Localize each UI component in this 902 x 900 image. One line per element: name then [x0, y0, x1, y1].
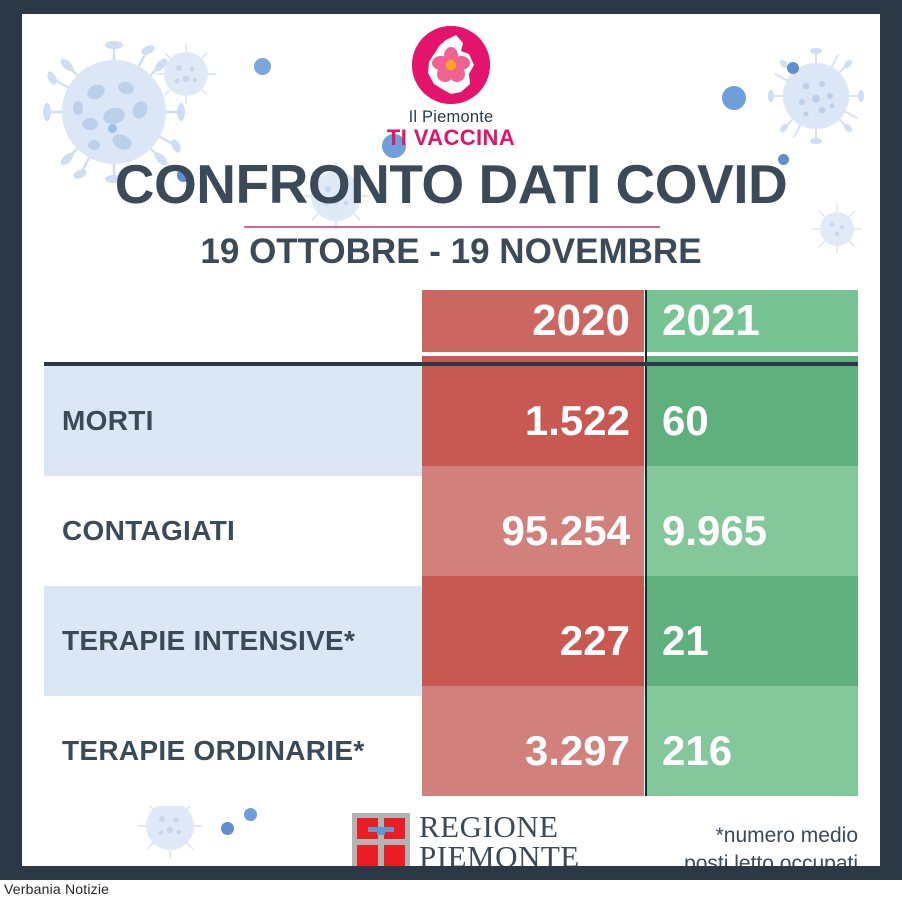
footnote-line1: *numero medio	[608, 822, 858, 850]
title-divider-rule	[244, 226, 660, 228]
logo-line1: REGIONE	[419, 812, 580, 842]
logo-line2: PIEMONTE	[419, 842, 580, 866]
table-cell-2020: 3.297	[422, 696, 630, 806]
page-subtitle: 19 OTTOBRE - 19 NOVEMBRE	[22, 232, 880, 272]
table-cell-2021: 216	[662, 696, 862, 806]
footnote-line2: posti letto occupati	[608, 850, 858, 866]
regione-piemonte-logo: REGIONE PIEMONTE	[352, 812, 580, 866]
virus-dot-icon	[244, 808, 257, 821]
table-cell-2020: 227	[422, 586, 630, 696]
page-title: CONFRONTO DATI COVID	[22, 152, 880, 216]
watermark: Verbania Notizie	[4, 881, 109, 897]
infographic-canvas: Il Piemonte TI VACCINA CONFRONTO DATI CO…	[22, 14, 880, 866]
brand-line2: TI VACCINA	[22, 125, 880, 151]
regione-piemonte-wordmark: REGIONE PIEMONTE	[419, 812, 580, 866]
table-cell-2020: 95.254	[422, 476, 630, 586]
table-row-label: TERAPIE INTENSIVE*	[62, 586, 422, 696]
table-cell-2020: 1.522	[422, 366, 630, 476]
piemonte-region-flower-icon	[412, 26, 490, 104]
table-cell-2021: 60	[662, 366, 862, 476]
regione-piemonte-logo-icon	[352, 813, 410, 866]
table-cell-2021: 21	[662, 586, 862, 696]
vaccine-campaign-logo: Il Piemonte TI VACCINA	[22, 26, 880, 151]
column-header-2020: 2020	[422, 290, 630, 352]
virus-dot-icon	[221, 822, 234, 835]
table-row-label: CONTAGIATI	[62, 476, 422, 586]
table-cell-2021: 9.965	[662, 476, 862, 586]
footnote: *numero medio posti letto occupati	[608, 822, 858, 866]
column-header-2021: 2021	[662, 290, 862, 352]
infographic-page: Il Piemonte TI VACCINA CONFRONTO DATI CO…	[0, 0, 902, 900]
table-row-label: MORTI	[62, 366, 422, 476]
table-row-label: TERAPIE ORDINARIE*	[62, 696, 422, 806]
comparison-table: 2020 2021 MORTI CONTAGIATI TERAPIE INTEN…	[22, 276, 880, 796]
